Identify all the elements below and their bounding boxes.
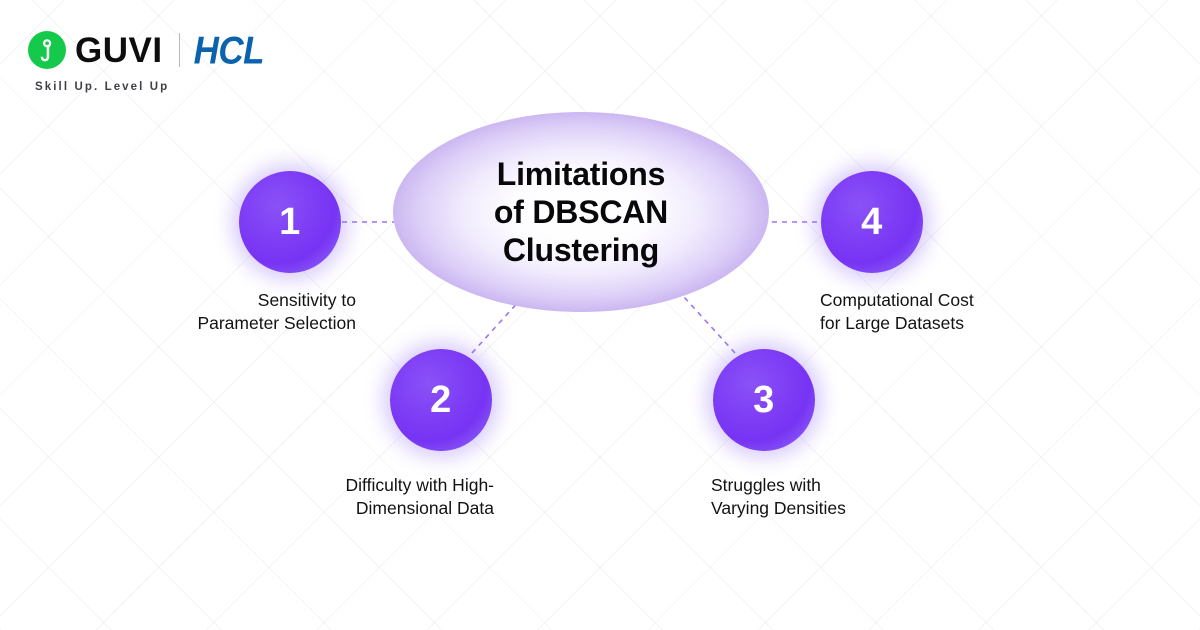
node-number-4: 4 [861,203,883,241]
node-number-2: 2 [430,381,452,419]
connector-node-3 [684,297,735,353]
brand-divider [179,33,180,67]
node-label-1: Sensitivity to Parameter Selection [56,289,356,336]
infographic-canvas: GUVI HCL Skill Up. Level Up Limitations … [0,0,1200,630]
node-circle-2[interactable]: 2 [390,349,492,451]
node-label-2: Difficulty with High- Dimensional Data [213,474,494,521]
center-topic-node: Limitations of DBSCAN Clustering [393,112,769,312]
node-circle-1[interactable]: 1 [239,171,341,273]
node-label-4: Computational Cost for Large Datasets [820,289,1140,336]
node-circle-3[interactable]: 3 [713,349,815,451]
brand-lockup: GUVI HCL Skill Up. Level Up [28,28,368,98]
center-title: Limitations of DBSCAN Clustering [494,155,668,269]
hcl-wordmark: HCL [194,30,264,69]
guvi-logo-icon [28,31,66,69]
node-number-3: 3 [753,381,775,419]
guvi-wordmark: GUVI [75,33,163,68]
node-circle-4[interactable]: 4 [821,171,923,273]
connector-node-2 [472,300,520,353]
brand-row: GUVI HCL [28,28,368,72]
node-number-1: 1 [279,203,301,241]
node-label-3: Struggles with Varying Densities [711,474,1011,521]
brand-tagline: Skill Up. Level Up [35,81,368,93]
